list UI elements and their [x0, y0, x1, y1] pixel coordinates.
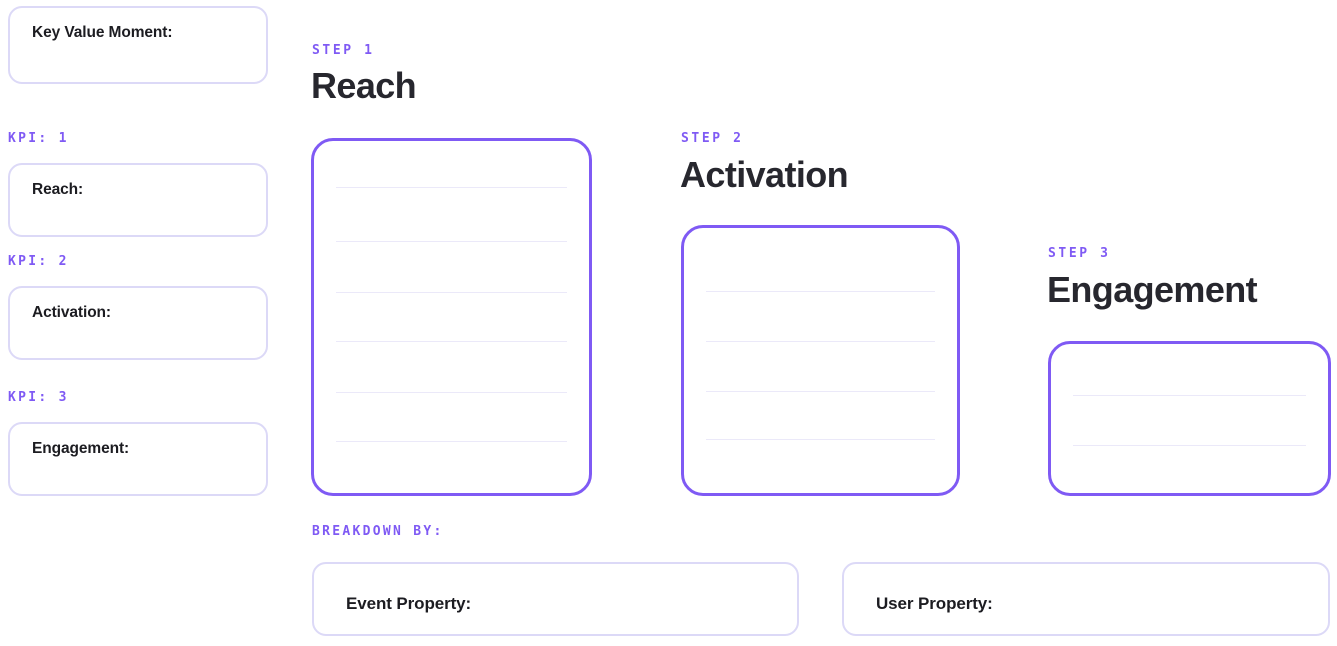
- kpi-3-caption: KPI: 3: [8, 390, 69, 405]
- breakdown-by-caption: BREAKDOWN BY:: [312, 524, 444, 539]
- rule-line: [706, 341, 935, 342]
- step-3-eyebrow: STEP 3: [1048, 246, 1111, 261]
- rule-line: [336, 292, 567, 293]
- kpi-1-caption: KPI: 1: [8, 131, 69, 146]
- kpi-1-label: Reach:: [32, 181, 83, 199]
- key-value-moment-label: Key Value Moment:: [32, 24, 172, 42]
- rule-line: [706, 391, 935, 392]
- rule-line: [336, 241, 567, 242]
- kpi-3-box[interactable]: Engagement:: [8, 422, 268, 496]
- rule-line: [336, 441, 567, 442]
- step-2-card[interactable]: [681, 225, 960, 496]
- user-property-label: User Property:: [876, 594, 993, 614]
- rule-line: [336, 392, 567, 393]
- step-1-card[interactable]: [311, 138, 592, 496]
- rule-line: [1073, 395, 1306, 396]
- kpi-2-label: Activation:: [32, 304, 111, 322]
- rule-line: [336, 187, 567, 188]
- step-2-eyebrow: STEP 2: [681, 131, 744, 146]
- key-value-moment-box[interactable]: Key Value Moment:: [8, 6, 268, 84]
- event-property-box[interactable]: Event Property:: [312, 562, 799, 636]
- step-2-title: Activation: [680, 157, 848, 193]
- kpi-1-box[interactable]: Reach:: [8, 163, 268, 237]
- kpi-3-label: Engagement:: [32, 440, 129, 458]
- kpi-2-caption: KPI: 2: [8, 254, 69, 269]
- worksheet-canvas: Key Value Moment: KPI: 1 Reach: KPI: 2 A…: [0, 0, 1337, 646]
- rule-line: [706, 439, 935, 440]
- rule-line: [336, 341, 567, 342]
- step-3-title: Engagement: [1047, 272, 1257, 308]
- rule-line: [1073, 445, 1306, 446]
- event-property-label: Event Property:: [346, 594, 471, 614]
- rule-line: [706, 291, 935, 292]
- kpi-2-box[interactable]: Activation:: [8, 286, 268, 360]
- user-property-box[interactable]: User Property:: [842, 562, 1330, 636]
- step-1-eyebrow: STEP 1: [312, 43, 375, 58]
- step-1-title: Reach: [311, 68, 416, 104]
- step-3-card[interactable]: [1048, 341, 1331, 496]
